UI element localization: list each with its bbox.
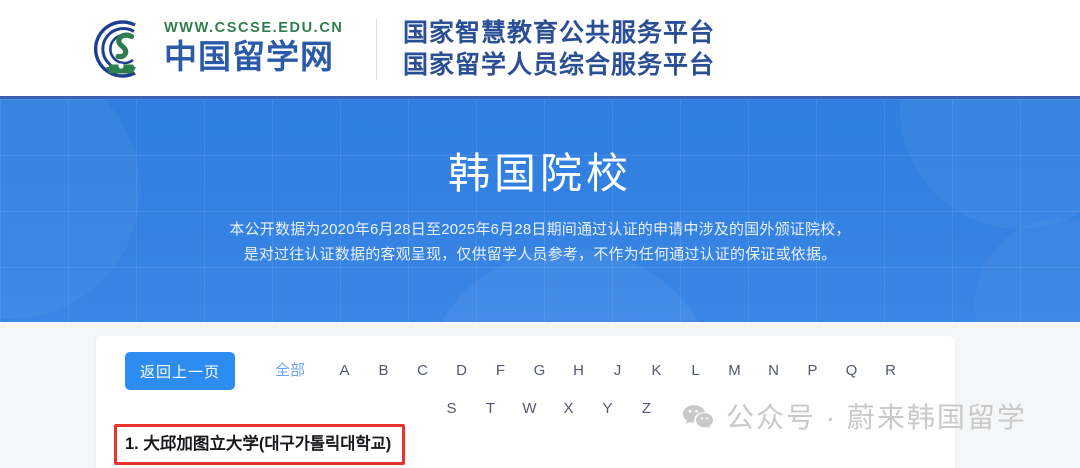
- header-inner: WWW.CSCSE.EDU.CN 中国留学网 国家智慧教育公共服务平台 国家留学…: [88, 14, 715, 84]
- filter-letter-q[interactable]: Q: [832, 352, 871, 390]
- alphabet-filter-row-2: S T W X Y Z: [267, 390, 955, 428]
- site-logo[interactable]: WWW.CSCSE.EDU.CN 中国留学网: [88, 16, 352, 82]
- filter-letter-x[interactable]: X: [549, 390, 588, 428]
- filter-letter-t[interactable]: T: [471, 390, 510, 428]
- site-header: WWW.CSCSE.EDU.CN 中国留学网 国家智慧教育公共服务平台 国家留学…: [0, 0, 1080, 96]
- filter-letter-r[interactable]: R: [871, 352, 910, 390]
- alphabet-filter-row-1: 全部 A B C D F G H J K L M N P Q R: [267, 352, 955, 390]
- filter-letter-l[interactable]: L: [676, 352, 715, 390]
- filter-letter-s[interactable]: S: [432, 390, 471, 428]
- page-title: 韩国院校: [0, 147, 1080, 201]
- filter-letter-y[interactable]: Y: [588, 390, 627, 428]
- page-root: WWW.CSCSE.EDU.CN 中国留学网 国家智慧教育公共服务平台 国家留学…: [0, 0, 1080, 468]
- banner-description: 本公开数据为2020年6月28日至2025年6月28日期间通过认证的申请中涉及的…: [0, 217, 1080, 267]
- filter-letter-z[interactable]: Z: [627, 390, 666, 428]
- filter-letter-f[interactable]: F: [481, 352, 520, 390]
- content-card: 返回上一页 全部 A B C D F G H J K L M N P: [96, 336, 955, 468]
- school-name: 1. 大邱加图立大学(대구가톨릭대학교): [125, 433, 394, 455]
- filter-letter-c[interactable]: C: [403, 352, 442, 390]
- filter-letter-j[interactable]: J: [598, 352, 637, 390]
- logo-text-block: WWW.CSCSE.EDU.CN 中国留学网: [164, 18, 352, 80]
- logo-url-text: WWW.CSCSE.EDU.CN: [164, 21, 352, 36]
- filter-letter-b[interactable]: B: [364, 352, 403, 390]
- platform-title-2: 国家留学人员综合服务平台: [403, 49, 715, 81]
- alphabet-filter: 全部 A B C D F G H J K L M N P Q R: [267, 352, 955, 428]
- banner-description-line-2: 是对过往认证数据的客观呈现，仅供留学人员参考，不作为任何通过认证的保证或依据。: [0, 242, 1080, 267]
- page-banner: 韩国院校 本公开数据为2020年6月28日至2025年6月28日期间通过认证的申…: [0, 96, 1080, 322]
- banner-content: 韩国院校 本公开数据为2020年6月28日至2025年6月28日期间通过认证的申…: [0, 99, 1080, 267]
- filter-letter-p[interactable]: P: [793, 352, 832, 390]
- filter-letter-w[interactable]: W: [510, 390, 549, 428]
- list-item[interactable]: 1. 大邱加图立大学(대구가톨릭대학교): [114, 424, 405, 465]
- cscse-logo-icon: [88, 16, 154, 82]
- header-platform-titles: 国家智慧教育公共服务平台 国家留学人员综合服务平台: [403, 17, 715, 81]
- filter-letter-n[interactable]: N: [754, 352, 793, 390]
- platform-title-1: 国家智慧教育公共服务平台: [403, 17, 715, 49]
- filter-letter-h[interactable]: H: [559, 352, 598, 390]
- filter-letter-k[interactable]: K: [637, 352, 676, 390]
- back-button[interactable]: 返回上一页: [125, 352, 235, 390]
- filter-letter-g[interactable]: G: [520, 352, 559, 390]
- logo-brand-cn: 中国留学网: [164, 37, 352, 77]
- filter-letter-m[interactable]: M: [715, 352, 754, 390]
- header-divider: [376, 18, 377, 80]
- filter-letter-a[interactable]: A: [325, 352, 364, 390]
- filter-all[interactable]: 全部: [267, 352, 313, 390]
- school-list: 1. 大邱加图立大学(대구가톨릭대학교): [114, 424, 955, 465]
- svg-text:中国留学网: 中国留学网: [164, 37, 334, 76]
- banner-description-line-1: 本公开数据为2020年6月28日至2025年6月28日期间通过认证的申请中涉及的…: [0, 217, 1080, 242]
- filter-letter-d[interactable]: D: [442, 352, 481, 390]
